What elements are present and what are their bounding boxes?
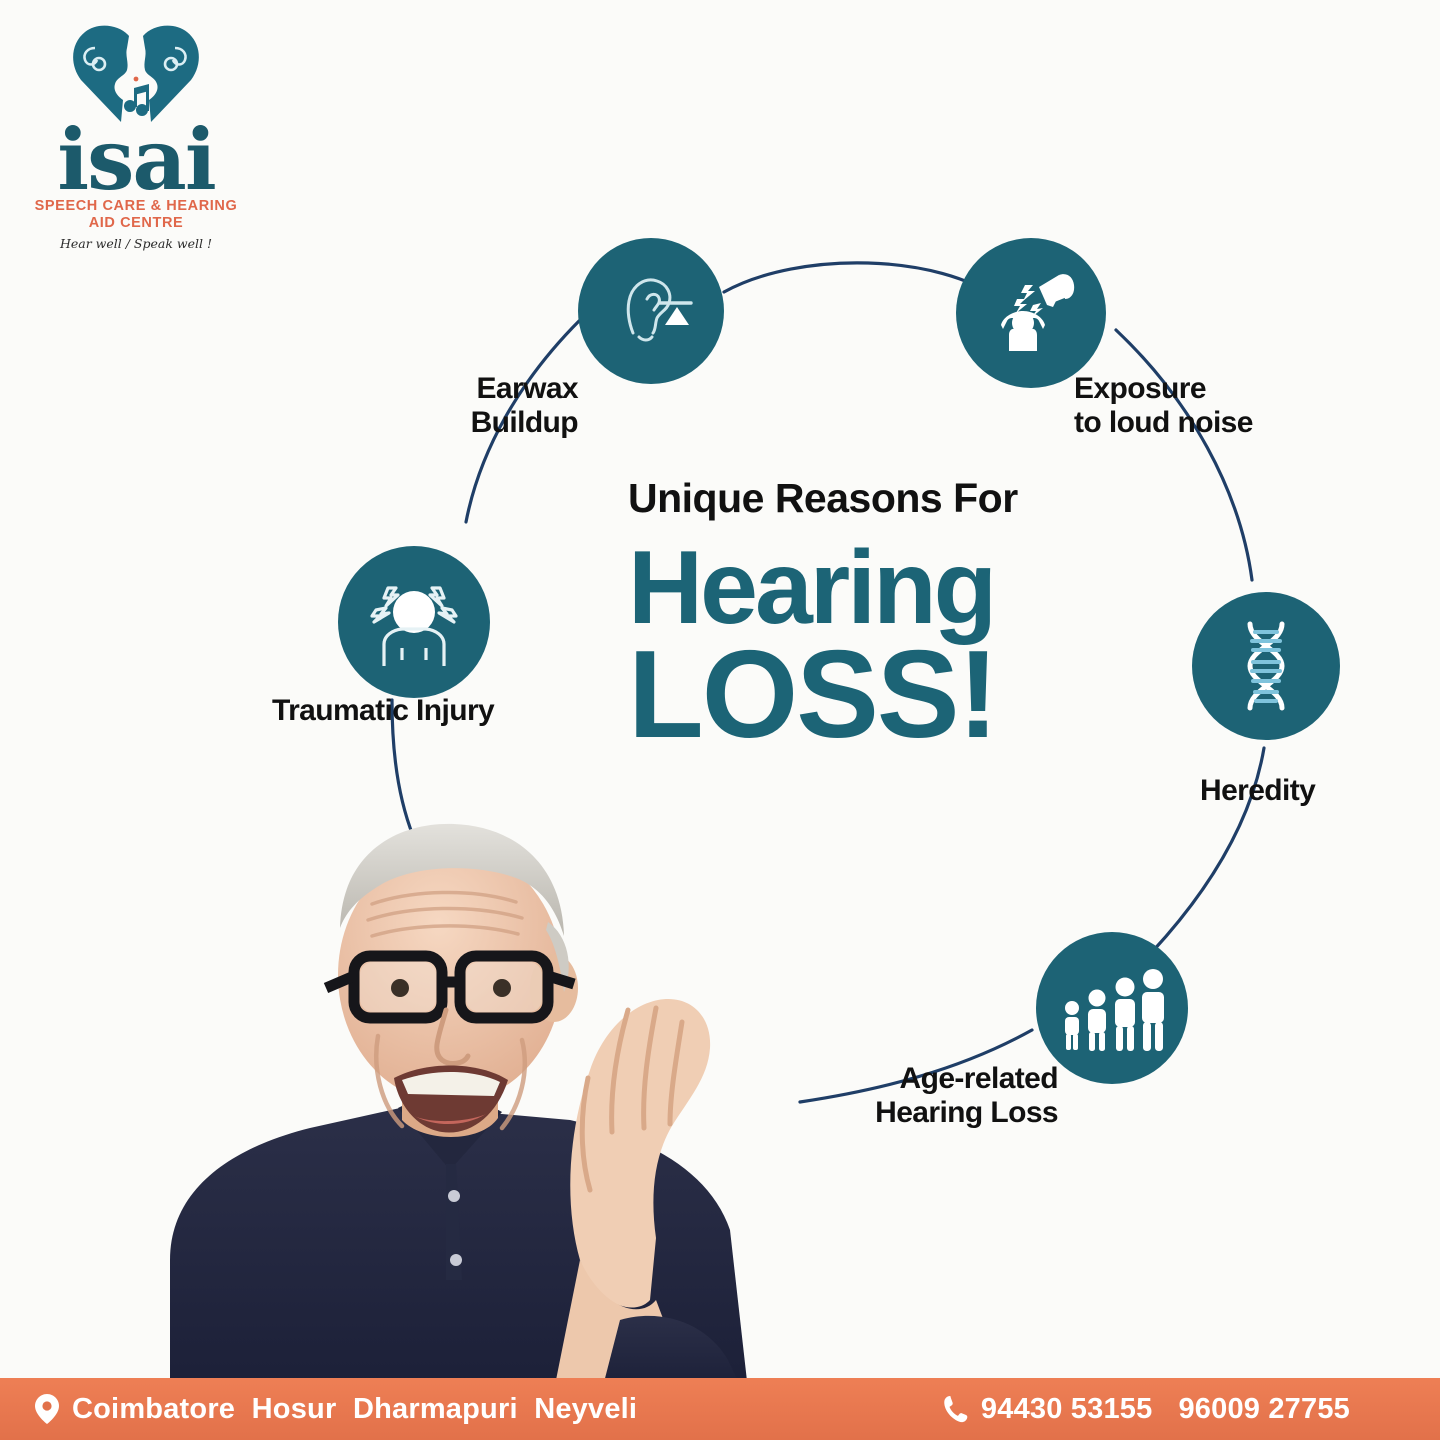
logo-wordmark: isai: [28, 126, 244, 193]
logo-subtitle: SPEECH CARE & HEARING AID CENTRE: [28, 198, 244, 232]
reason-label-noise: Exposure to loud noise: [1074, 372, 1304, 439]
headline-kicker: Unique Reasons For: [628, 478, 1148, 519]
reason-node-heredity: [1192, 592, 1340, 740]
reason-bubble-trauma: [338, 546, 490, 698]
reason-label-heredity: Heredity: [1200, 774, 1360, 808]
footer-phones-group: 94430 53155 96009 27755: [943, 1393, 1350, 1426]
reason-bubble-earwax: [578, 238, 724, 384]
reason-bubble-noise: [956, 238, 1106, 388]
logo-tagline: Hear well / Speak well !: [28, 236, 244, 251]
reason-bubble-age: [1036, 932, 1188, 1084]
footer-locations: Coimbatore Hosur Dharmapuri Neyveli: [72, 1393, 637, 1426]
aging-people-icon: [1058, 960, 1166, 1056]
brand-logo: isai SPEECH CARE & HEARING AID CENTRE He…: [28, 22, 244, 251]
reason-bubble-heredity: [1192, 592, 1340, 740]
poster-canvas: isai SPEECH CARE & HEARING AID CENTRE He…: [0, 0, 1440, 1440]
reason-node-earwax: [578, 238, 724, 384]
reason-node-age: [1036, 932, 1188, 1084]
headline-line-2: LOSS!: [628, 637, 1148, 755]
loud-noise-megaphone-icon: [981, 263, 1081, 363]
dna-helix-icon: [1216, 616, 1316, 716]
footer-phone-1: 94430 53155: [981, 1393, 1153, 1426]
elderly-man-cupping-ear-photo: [150, 760, 910, 1390]
reason-node-noise: [956, 238, 1106, 388]
phone-icon: [943, 1394, 969, 1424]
reason-label-earwax: Earwax Buildup: [448, 372, 578, 439]
reason-label-trauma: Traumatic Injury: [272, 694, 542, 728]
blocked-ear-icon: [603, 263, 699, 359]
footer-locations-group: Coimbatore Hosur Dharmapuri Neyveli: [34, 1393, 637, 1426]
footer-contact-bar: Coimbatore Hosur Dharmapuri Neyveli 9443…: [0, 1378, 1440, 1440]
head-injury-icon: [362, 572, 466, 672]
location-pin-icon: [34, 1394, 60, 1424]
footer-phone-2: 96009 27755: [1178, 1393, 1350, 1426]
reason-node-trauma: [338, 546, 490, 698]
page-title: Unique Reasons For Hearing LOSS!: [628, 478, 1148, 755]
